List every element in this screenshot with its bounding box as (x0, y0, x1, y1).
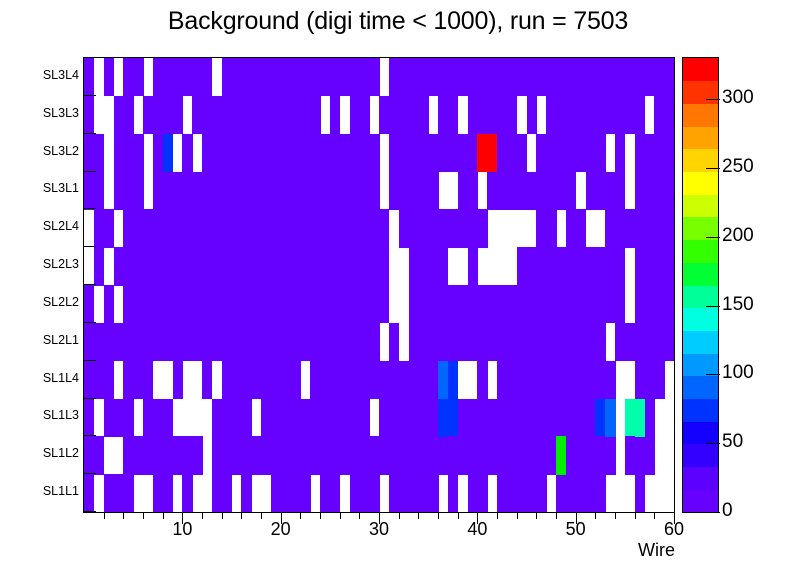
heatmap-cell (536, 474, 546, 512)
y-axis-tick-mark (83, 473, 96, 474)
heatmap-cell (133, 172, 143, 210)
heatmap-cell (605, 209, 615, 247)
x-axis-tick-minor (222, 513, 223, 519)
heatmap-cell (133, 134, 143, 172)
heatmap-cell (222, 285, 232, 323)
heatmap-cell (104, 474, 114, 512)
colorbar-band (683, 421, 718, 444)
heatmap-cell (84, 58, 94, 96)
colorbar-tick-label: 300 (722, 87, 754, 109)
heatmap-cell (369, 323, 379, 361)
colorbar-tick-mark (706, 443, 720, 444)
heatmap-cell (123, 399, 133, 437)
heatmap-cell (635, 172, 645, 210)
heatmap-cell (428, 209, 438, 247)
heatmap-cell (379, 247, 389, 285)
heatmap-cell (369, 58, 379, 96)
heatmap-cell (477, 361, 487, 399)
y-axis-tick-mark (83, 435, 96, 436)
x-axis-tick-label: 50 (551, 519, 601, 540)
y-axis-tick-mark (83, 133, 96, 134)
heatmap-cell (104, 209, 114, 247)
y-axis-tick-mark (83, 246, 96, 247)
heatmap-cell (182, 474, 192, 512)
x-axis-title: Wire (605, 540, 675, 561)
heatmap-cell (546, 209, 556, 247)
x-axis-tick-label: 20 (256, 519, 306, 540)
heatmap-cell (635, 474, 645, 512)
heatmap-cell (477, 209, 487, 247)
heatmap-cell (222, 172, 232, 210)
x-axis-tick-label: 10 (157, 519, 207, 540)
heatmap-cell (300, 474, 310, 512)
heatmap-cell (94, 436, 104, 474)
y-axis-tick-label: SL1L1 (43, 484, 79, 498)
colorbar-band (683, 330, 718, 353)
x-axis-tick-minor (635, 513, 636, 519)
heatmap-cell (448, 96, 458, 134)
colorbar-tick-label: 0 (722, 500, 733, 522)
heatmap-cell (133, 436, 143, 474)
y-axis-tick-mark (83, 398, 96, 399)
heatmap-cell (202, 361, 212, 399)
heatmap-cell (664, 172, 674, 210)
y-axis-tick-label: SL1L4 (43, 371, 79, 385)
heatmap-cell (487, 323, 497, 361)
heatmap-cell (399, 209, 409, 247)
heatmap-cell (546, 172, 556, 210)
heatmap-cell (487, 285, 497, 323)
heatmap-cell (340, 285, 350, 323)
heatmap-cell (635, 285, 645, 323)
heatmap-cell (84, 285, 94, 323)
heatmap-cell (202, 58, 212, 96)
heatmap-cell (595, 474, 605, 512)
heatmap-cell (281, 436, 291, 474)
heatmap-cell (163, 285, 173, 323)
heatmap-cell (576, 58, 586, 96)
heatmap-cell (399, 58, 409, 96)
heatmap-cell (133, 209, 143, 247)
heatmap-cell (291, 361, 301, 399)
heatmap-cell (546, 247, 556, 285)
heatmap-cell (192, 172, 202, 210)
heatmap-cell (635, 361, 645, 399)
x-axis-tick-minor (418, 513, 419, 519)
heatmap-cell (399, 96, 409, 134)
heatmap-cell (654, 361, 664, 399)
heatmap-cell (251, 323, 261, 361)
heatmap-cell (428, 134, 438, 172)
heatmap-cell (458, 58, 468, 96)
heatmap-cell (645, 399, 655, 437)
colorbar-tick-label: 150 (722, 294, 754, 316)
heatmap-cell-highlight (438, 399, 448, 437)
heatmap-cell (222, 58, 232, 96)
x-axis-tick-minor (143, 513, 144, 519)
heatmap-cell (340, 134, 350, 172)
colorbar-band (683, 262, 718, 285)
heatmap-cell (251, 58, 261, 96)
heatmap-cell-highlight (605, 399, 615, 437)
heatmap-cell (605, 172, 615, 210)
heatmap-cell (222, 134, 232, 172)
heatmap-cell (546, 134, 556, 172)
heatmap-cell (428, 285, 438, 323)
heatmap-cell (487, 399, 497, 437)
heatmap-cell (94, 172, 104, 210)
heatmap-cell (104, 285, 114, 323)
heatmap-cell (340, 323, 350, 361)
heatmap-cell-highlight (438, 361, 448, 399)
heatmap-cell (281, 474, 291, 512)
heatmap-cell (251, 209, 261, 247)
heatmap-cell (428, 323, 438, 361)
heatmap-cell (192, 96, 202, 134)
heatmap-cell (310, 134, 320, 172)
heatmap-cell (251, 247, 261, 285)
heatmap-cell (192, 285, 202, 323)
heatmap-cell (664, 58, 674, 96)
heatmap-cell (84, 399, 94, 437)
heatmap-cell-highlight (556, 436, 566, 474)
heatmap-cell-grid (84, 58, 674, 512)
x-axis-tick-minor (104, 513, 105, 519)
x-axis-tick-minor (615, 513, 616, 519)
heatmap-cell (241, 399, 251, 437)
x-axis-tick-label: 60 (649, 519, 699, 540)
heatmap-cell (340, 247, 350, 285)
x-axis-tick-minor (320, 513, 321, 519)
heatmap-cell (94, 134, 104, 172)
heatmap-cell (163, 172, 173, 210)
heatmap-cell (173, 96, 183, 134)
heatmap-cell (635, 323, 645, 361)
heatmap-cell (458, 399, 468, 437)
heatmap-cell (517, 436, 527, 474)
heatmap-cell (310, 436, 320, 474)
heatmap-cell (576, 323, 586, 361)
colorbar-tick-label: 200 (722, 225, 754, 247)
heatmap-cell (477, 474, 487, 512)
x-axis-tick-label: 30 (354, 519, 404, 540)
x-axis-tick-label: 40 (452, 519, 502, 540)
heatmap-cell (123, 474, 133, 512)
colorbar-band (683, 194, 718, 217)
heatmap-cell (310, 58, 320, 96)
heatmap-cell (615, 134, 625, 172)
heatmap-cell (487, 172, 497, 210)
heatmap-cell (192, 58, 202, 96)
y-axis-tick-label: SL3L4 (43, 68, 79, 82)
heatmap-cell (615, 285, 625, 323)
heatmap-plot-area[interactable] (83, 57, 675, 513)
heatmap-cell (251, 361, 261, 399)
heatmap-cell (281, 172, 291, 210)
heatmap-cell (281, 96, 291, 134)
heatmap-cell (576, 361, 586, 399)
heatmap-cell (222, 247, 232, 285)
x-axis-tick-minor (340, 513, 341, 519)
y-axis-tick-mark (83, 322, 96, 323)
heatmap-cell (635, 247, 645, 285)
colorbar-tick-mark (706, 512, 720, 513)
heatmap-cell (340, 58, 350, 96)
heatmap-cell (340, 209, 350, 247)
heatmap-cell (163, 323, 173, 361)
heatmap-cell (546, 285, 556, 323)
heatmap-cell (359, 399, 369, 437)
heatmap-cell (133, 361, 143, 399)
heatmap-cell (163, 96, 173, 134)
colorbar-band (683, 126, 718, 149)
heatmap-cell (576, 134, 586, 172)
heatmap-cell (605, 247, 615, 285)
heatmap-cell (340, 436, 350, 474)
heatmap-cell (605, 436, 615, 474)
heatmap-cell (635, 96, 645, 134)
heatmap-cell (222, 96, 232, 134)
y-axis-labels: SL3L4SL3L3SL3L2SL3L1SL2L4SL2L3SL2L2SL2L1… (0, 57, 79, 513)
heatmap-cell (664, 209, 674, 247)
page-title: Background (digi time < 1000), run = 750… (0, 7, 796, 36)
heatmap-cell (192, 323, 202, 361)
heatmap-cell (438, 247, 448, 285)
heatmap-cell (94, 247, 104, 285)
heatmap-cell (576, 96, 586, 134)
heatmap-cell (310, 399, 320, 437)
heatmap-cell (340, 361, 350, 399)
heatmap-cell-highlight (477, 134, 487, 172)
heatmap-cell (399, 436, 409, 474)
heatmap-cell (222, 361, 232, 399)
heatmap-cell (251, 96, 261, 134)
heatmap-cell (517, 285, 527, 323)
heatmap-cell (222, 399, 232, 437)
heatmap-cell (546, 361, 556, 399)
heatmap-cell (133, 285, 143, 323)
heatmap-cell (645, 436, 655, 474)
heatmap-cell (163, 474, 173, 512)
heatmap-cell (448, 361, 458, 399)
heatmap-cell (615, 172, 625, 210)
heatmap-cell (399, 474, 409, 512)
heatmap-cell (546, 323, 556, 361)
heatmap-cell (369, 436, 379, 474)
y-axis-tick-label: SL1L3 (43, 408, 79, 422)
heatmap-cell (330, 96, 340, 134)
heatmap-cell-highlight (163, 134, 173, 172)
heatmap-cell (281, 285, 291, 323)
y-axis-tick-mark (83, 360, 96, 361)
heatmap-cell (517, 134, 527, 172)
heatmap-cell (468, 172, 478, 210)
heatmap-cell (310, 285, 320, 323)
heatmap-cell (576, 399, 586, 437)
heatmap-cell (595, 134, 605, 172)
heatmap-cell (133, 58, 143, 96)
heatmap-cell (576, 247, 586, 285)
heatmap-cell (487, 134, 497, 172)
heatmap-cell (605, 58, 615, 96)
colorbar-tick-label: 100 (722, 362, 754, 384)
heatmap-cell (163, 58, 173, 96)
y-axis-tick-mark (83, 284, 96, 285)
heatmap-cell (281, 323, 291, 361)
y-axis-tick-label: SL3L3 (43, 106, 79, 120)
heatmap-cell (428, 399, 438, 437)
heatmap-cell (566, 172, 576, 210)
colorbar-band (683, 489, 718, 512)
heatmap-cell (517, 247, 527, 285)
y-axis-tick-mark (83, 511, 96, 512)
heatmap-cell (369, 209, 379, 247)
heatmap-cell (310, 247, 320, 285)
heatmap-cell-highlight (635, 399, 645, 437)
heatmap-cell (664, 323, 674, 361)
heatmap-cell (664, 96, 674, 134)
heatmap-cell (635, 436, 645, 474)
heatmap-cell (281, 209, 291, 247)
heatmap-cell (458, 209, 468, 247)
heatmap-cell (281, 361, 291, 399)
heatmap-cell (310, 209, 320, 247)
heatmap-cell (576, 436, 586, 474)
heatmap-cell (369, 474, 379, 512)
heatmap-cell (468, 247, 478, 285)
y-axis-tick-label: SL2L4 (43, 219, 79, 233)
heatmap-cell (251, 172, 261, 210)
colorbar-band (683, 399, 718, 422)
heatmap-cell (458, 134, 468, 172)
colorbar-tick-mark (706, 237, 720, 238)
heatmap-cell (546, 399, 556, 437)
colorbar-band (683, 376, 718, 399)
x-axis-tick-minor (536, 513, 537, 519)
heatmap-cell (428, 58, 438, 96)
heatmap-cell (163, 247, 173, 285)
heatmap-cell (458, 285, 468, 323)
heatmap-cell (546, 96, 556, 134)
heatmap-cell (310, 323, 320, 361)
heatmap-cell (133, 247, 143, 285)
heatmap-cell (428, 474, 438, 512)
heatmap-cell (428, 361, 438, 399)
y-axis-tick-label: SL1L2 (43, 446, 79, 460)
heatmap-cell (458, 172, 468, 210)
heatmap-cell (84, 96, 94, 134)
colorbar-band (683, 308, 718, 331)
heatmap-cell (507, 96, 517, 134)
heatmap-cell (517, 474, 527, 512)
heatmap-cell (84, 474, 94, 512)
heatmap-cell (192, 436, 202, 474)
y-axis-tick-label: SL3L2 (43, 144, 79, 158)
heatmap-cell (251, 436, 261, 474)
heatmap-cell (605, 361, 615, 399)
heatmap-cell (281, 399, 291, 437)
heatmap-cell (605, 285, 615, 323)
heatmap-cell (192, 209, 202, 247)
colorbar-band (683, 240, 718, 263)
heatmap-cell (595, 323, 605, 361)
heatmap-cell (517, 361, 527, 399)
heatmap-cell (369, 247, 379, 285)
heatmap-cell (458, 323, 468, 361)
heatmap-cell (635, 209, 645, 247)
heatmap-cell (399, 399, 409, 437)
root-canvas: Background (digi time < 1000), run = 750… (0, 0, 796, 572)
heatmap-cell (192, 247, 202, 285)
heatmap-cell (517, 399, 527, 437)
heatmap-cell (104, 58, 114, 96)
y-axis-tick-label: SL2L1 (43, 333, 79, 347)
heatmap-cell (104, 323, 114, 361)
heatmap-cell (576, 474, 586, 512)
heatmap-cell (399, 134, 409, 172)
x-axis-tick-minor (241, 513, 242, 519)
colorbar-band (683, 81, 718, 104)
heatmap-cell (664, 285, 674, 323)
colorbar-tick-mark (706, 99, 720, 100)
heatmap-cell (428, 436, 438, 474)
heatmap-cell (576, 209, 586, 247)
y-axis-tick-label: SL3L1 (43, 181, 79, 195)
heatmap-cell (487, 96, 497, 134)
heatmap-cell (163, 399, 173, 437)
heatmap-cell (182, 134, 192, 172)
colorbar-band (683, 58, 718, 81)
heatmap-cell (448, 474, 458, 512)
heatmap-cell (281, 134, 291, 172)
x-axis-tick-minor (123, 513, 124, 519)
colorbar-band (683, 467, 718, 490)
heatmap-cell (133, 323, 143, 361)
heatmap-cell (369, 361, 379, 399)
heatmap-cell (104, 361, 114, 399)
heatmap-cell (517, 172, 527, 210)
heatmap-cell (389, 323, 399, 361)
heatmap-cell (222, 209, 232, 247)
heatmap-cell (379, 209, 389, 247)
heatmap-cell (340, 399, 350, 437)
heatmap-cell (458, 436, 468, 474)
heatmap-cell (527, 96, 537, 134)
heatmap-cell (340, 172, 350, 210)
colorbar-band (683, 444, 718, 467)
y-axis-tick-label: SL2L3 (43, 257, 79, 271)
heatmap-cell (576, 285, 586, 323)
heatmap-cell (517, 323, 527, 361)
heatmap-cell (143, 361, 153, 399)
heatmap-cell (546, 58, 556, 96)
y-axis-tick-label: SL2L2 (43, 295, 79, 309)
heatmap-cell (281, 58, 291, 96)
colorbar-tick-label: 250 (722, 156, 754, 178)
colorbar-tick-mark (706, 168, 720, 169)
heatmap-cell (418, 96, 428, 134)
colorbar-tick-mark (706, 306, 720, 307)
colorbar-band (683, 172, 718, 195)
heatmap-cell (379, 285, 389, 323)
colorbar-palette[interactable] (682, 57, 719, 513)
heatmap-cell (222, 474, 232, 512)
colorbar-tick-mark (706, 374, 720, 375)
heatmap-cell (635, 134, 645, 172)
heatmap-cell (251, 134, 261, 172)
y-axis-tick-mark (83, 208, 96, 209)
heatmap-cell (173, 361, 183, 399)
